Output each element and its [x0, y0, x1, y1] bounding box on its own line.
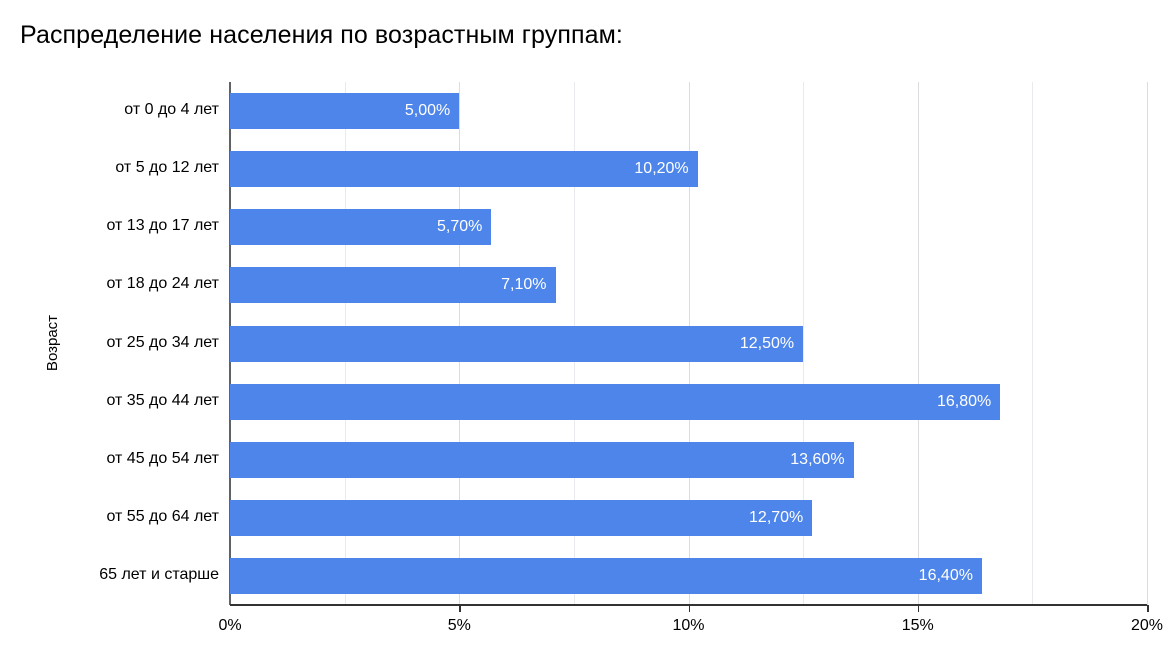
bar-row[interactable]: 10,20% — [230, 151, 1147, 187]
bar[interactable] — [230, 384, 1000, 420]
bars-layer: 5,00%10,20%5,70%7,10%12,50%16,80%13,60%1… — [230, 82, 1147, 605]
bar-chart: Распределение населения по возрастным гр… — [0, 0, 1176, 672]
category-label: от 18 до 24 лет — [9, 275, 219, 293]
chart-title: Распределение населения по возрастным гр… — [20, 20, 623, 50]
x-axis-tick-label: 5% — [448, 617, 471, 635]
bar[interactable] — [230, 500, 812, 536]
category-labels: от 0 до 4 летот 5 до 12 летот 13 до 17 л… — [0, 82, 219, 605]
bar-row[interactable]: 12,50% — [230, 326, 1147, 362]
bar-row[interactable]: 13,60% — [230, 442, 1147, 478]
gridline — [1147, 82, 1148, 605]
category-label: от 45 до 54 лет — [9, 450, 219, 468]
bar-row[interactable]: 7,10% — [230, 267, 1147, 303]
category-label: от 0 до 4 лет — [9, 101, 219, 119]
bar[interactable] — [230, 209, 491, 245]
bar-row[interactable]: 16,80% — [230, 384, 1147, 420]
category-label: 65 лет и старше — [9, 566, 219, 584]
x-axis-tick — [918, 605, 920, 612]
x-axis-tick-label: 20% — [1131, 617, 1163, 635]
bar[interactable] — [230, 267, 556, 303]
category-label: от 5 до 12 лет — [9, 159, 219, 177]
bar[interactable] — [230, 151, 698, 187]
y-axis-title: Возраст — [44, 288, 61, 398]
bar-row[interactable]: 5,70% — [230, 209, 1147, 245]
category-label: от 35 до 44 лет — [9, 392, 219, 410]
bar[interactable] — [230, 442, 854, 478]
bar[interactable] — [230, 93, 459, 129]
bar-row[interactable]: 16,40% — [230, 558, 1147, 594]
x-axis-tick — [459, 605, 461, 612]
x-axis-tick-label: 0% — [218, 617, 241, 635]
x-axis-tick-label: 10% — [672, 617, 704, 635]
bar-row[interactable]: 12,70% — [230, 500, 1147, 536]
category-label: от 25 до 34 лет — [9, 334, 219, 352]
category-label: от 13 до 17 лет — [9, 217, 219, 235]
x-axis-tick-label: 15% — [902, 617, 934, 635]
bar[interactable] — [230, 326, 803, 362]
category-label: от 55 до 64 лет — [9, 508, 219, 526]
x-axis-tick — [689, 605, 691, 612]
bar[interactable] — [230, 558, 982, 594]
bar-row[interactable]: 5,00% — [230, 93, 1147, 129]
x-axis-tick — [1147, 605, 1149, 612]
